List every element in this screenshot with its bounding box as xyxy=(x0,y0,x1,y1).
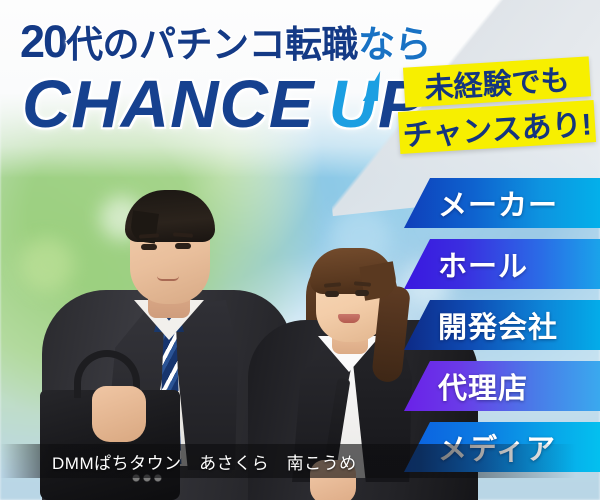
female-hair-front xyxy=(310,248,394,294)
category-label-developer: 開発会社 xyxy=(438,304,558,346)
logo-chance-text: CHANCE xyxy=(22,67,315,142)
advertisement-banner[interactable]: 20代のパチンコ転職なら CHANCEUP 未経験でも チャンスあり! メーカー… xyxy=(0,0,600,500)
male-eye-right xyxy=(175,243,191,249)
male-eye-left xyxy=(141,244,157,250)
female-eye-right xyxy=(355,290,369,296)
category-label-maker: メーカー xyxy=(438,182,558,224)
headline-main: 代のパチンコ転職 xyxy=(66,24,358,65)
male-mouth xyxy=(157,276,179,281)
category-label-hall: ホール xyxy=(438,243,528,285)
category-button-maker[interactable]: メーカー xyxy=(404,178,600,228)
male-hand xyxy=(92,386,146,442)
logo-u-letter: U xyxy=(329,67,378,142)
category-list: メーカー ホール 開発会社 代理店 メディア xyxy=(404,178,600,483)
credit-text: DMMぱちタウン あさくら 南こうめ xyxy=(52,449,357,474)
credit-bar: DMMぱちタウン あさくら 南こうめ xyxy=(0,444,600,478)
headline: 20代のパチンコ転職なら xyxy=(20,14,450,68)
female-eye-left xyxy=(325,291,339,297)
category-button-agency[interactable]: 代理店 xyxy=(404,361,600,411)
headline-suffix: なら xyxy=(358,24,431,65)
female-mouth xyxy=(338,314,360,323)
headline-number: 20 xyxy=(20,16,66,67)
category-button-developer[interactable]: 開発会社 xyxy=(404,300,600,350)
category-button-hall[interactable]: ホール xyxy=(404,239,600,289)
chance-up-logo: CHANCEUP xyxy=(22,66,424,143)
badge-1-label: 未経験でも xyxy=(423,57,570,108)
category-label-agency: 代理店 xyxy=(438,365,528,407)
